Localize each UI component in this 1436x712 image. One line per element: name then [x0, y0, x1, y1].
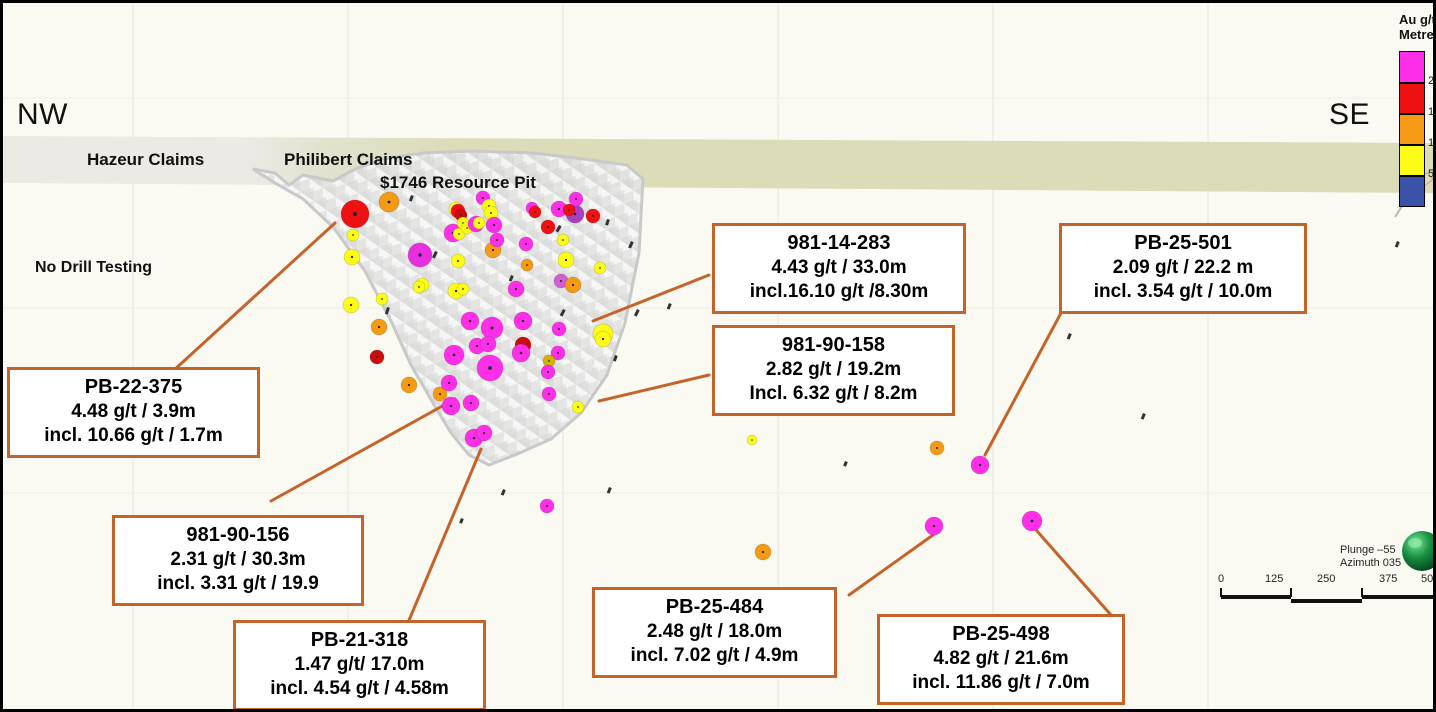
orientation-sphere-icon: [1402, 531, 1436, 571]
scale-tick-500: 500: [1421, 573, 1436, 585]
overburden-band: [3, 136, 1436, 193]
callout-grade: 2.09 g/t / 22.2 m: [1072, 256, 1294, 280]
legend-title-line1: Au g/t: [1399, 13, 1436, 28]
intercept-marker-center: [762, 551, 764, 553]
callout-pb-25-484[interactable]: PB-25-484 2.48 g/t / 18.0m incl. 7.02 g/…: [592, 587, 837, 678]
legend-tick-20: 20: [1428, 75, 1436, 87]
callout-pb-25-498[interactable]: PB-25-498 4.82 g/t / 21.6m incl. 11.86 g…: [877, 614, 1125, 705]
intercept-marker-center: [353, 212, 357, 216]
legend-swatch-red-15-20: [1399, 83, 1425, 114]
intercept-marker-center: [490, 326, 493, 329]
intercept-marker-center: [558, 208, 560, 210]
callout-hole-id: 981-14-283: [725, 231, 953, 256]
callout-grade: 2.48 g/t / 18.0m: [605, 620, 824, 644]
intercept-marker-center: [453, 354, 456, 357]
legend-swatch-blue-under-5: [1399, 176, 1425, 207]
intercept-marker-center: [602, 338, 604, 340]
intercept-marker-center: [560, 280, 562, 282]
intercept-marker-center: [482, 197, 484, 199]
intercept-marker-center: [418, 253, 421, 256]
intercept-marker-center: [936, 447, 938, 449]
intercept-marker-center: [933, 525, 936, 528]
intercept-marker-center: [592, 215, 594, 217]
intercept-marker-center: [352, 234, 354, 236]
intercept-marker-center: [520, 352, 523, 355]
intercept-marker-center: [568, 209, 570, 211]
callout-hole-id: PB-25-498: [890, 622, 1112, 647]
callout-incl: incl.16.10 g/t /8.30m: [725, 280, 953, 304]
intercept-marker-center: [458, 233, 460, 235]
intercept-marker-center: [575, 198, 577, 200]
intercept-marker-center: [469, 320, 472, 323]
intercept-marker-center: [548, 360, 550, 362]
intercept-marker-center: [562, 239, 564, 241]
intercept-marker-center: [378, 326, 380, 328]
direction-label-se: SE: [1329, 98, 1370, 132]
intercept-marker-center: [492, 249, 494, 251]
callout-incl: Incl. 6.32 g/t / 8.2m: [725, 382, 942, 406]
callout-grade: 2.31 g/t / 30.3m: [125, 548, 351, 572]
intercept-marker-center: [558, 328, 560, 330]
legend-title-line2: Metres: [1399, 28, 1436, 43]
callout-grade: 4.43 g/t / 33.0m: [725, 256, 953, 280]
intercept-marker-center: [448, 382, 450, 384]
callout-hole-id: PB-22-375: [20, 375, 247, 400]
callout-hole-id: 981-90-156: [125, 523, 351, 548]
orientation-azimuth: Azimuth 035: [1340, 557, 1401, 571]
callout-grade: 4.82 g/t / 21.6m: [890, 647, 1112, 671]
callout-incl: incl. 3.54 g/t / 10.0m: [1072, 280, 1294, 304]
callout-incl: incl. 7.02 g/t / 4.9m: [605, 644, 824, 668]
callout-hole-id: PB-25-484: [605, 595, 824, 620]
intercept-marker-center: [493, 224, 495, 226]
intercept-marker-center: [483, 432, 485, 434]
intercept-marker-center: [751, 439, 753, 441]
intercept-marker-center: [547, 226, 549, 228]
intercept-marker-center: [457, 260, 459, 262]
legend-tick-15: 15: [1428, 106, 1436, 118]
intercept-marker-center: [490, 212, 492, 214]
no-drill-testing-note: No Drill Testing: [35, 259, 152, 277]
intercept-marker-center: [476, 345, 478, 347]
resource-pit-label: $1746 Resource Pit: [380, 173, 536, 193]
scale-bar: [1221, 588, 1433, 603]
callout-hole-id: PB-21-318: [246, 628, 473, 653]
legend-swatch-orange-10-15: [1399, 114, 1425, 145]
intercept-marker-center: [1031, 520, 1034, 523]
intercept-marker-center: [547, 371, 549, 373]
intercept-marker-center: [439, 393, 441, 395]
callout-981-90-158[interactable]: 981-90-158 2.82 g/t / 19.2m Incl. 6.32 g…: [712, 325, 955, 416]
claim-label-hazeur: Hazeur Claims: [87, 150, 204, 170]
callout-981-14-283[interactable]: 981-14-283 4.43 g/t / 33.0m incl.16.10 g…: [712, 223, 966, 314]
callout-981-90-156[interactable]: 981-90-156 2.31 g/t / 30.3m incl. 3.31 g…: [112, 515, 364, 606]
callout-incl: incl. 3.31 g/t / 19.9: [125, 572, 351, 596]
scale-tick-125: 125: [1265, 573, 1283, 585]
intercept-marker-center: [496, 239, 498, 241]
intercept-marker-center: [565, 259, 567, 261]
intercept-marker-center: [557, 352, 559, 354]
cross-section-figure: NW SE Hazeur Claims Philibert Claims $17…: [0, 0, 1436, 712]
intercept-marker-center: [470, 402, 472, 404]
intercept-marker-center: [388, 201, 391, 204]
legend-tick-5: 5: [1428, 168, 1434, 180]
callout-incl: incl. 11.86 g/t / 7.0m: [890, 671, 1112, 695]
callout-incl: incl. 10.66 g/t / 1.7m: [20, 424, 247, 448]
intercept-marker-center: [487, 343, 489, 345]
intercept-marker-center: [525, 243, 527, 245]
scale-tick-375: 375: [1379, 573, 1397, 585]
scale-tick-250: 250: [1317, 573, 1335, 585]
callout-pb-22-375[interactable]: PB-22-375 4.48 g/t / 3.9m incl. 10.66 g/…: [7, 367, 260, 458]
legend-swatch-magenta-over-20: [1399, 51, 1425, 83]
intercept-marker-center: [572, 284, 574, 286]
intercept-marker-center: [350, 304, 352, 306]
intercept-marker-center: [450, 405, 453, 408]
legend-tick-10: 10: [1428, 137, 1436, 149]
intercept-marker-center: [460, 214, 462, 216]
intercept-marker-center: [599, 267, 601, 269]
callout-grade: 1.47 g/t/ 17.0m: [246, 653, 473, 677]
intercept-marker-center: [351, 256, 353, 258]
scale-tick-0: 0: [1218, 573, 1224, 585]
intercept-marker-center: [546, 505, 548, 507]
intercept-marker-center: [548, 393, 550, 395]
callout-hole-id: 981-90-158: [725, 333, 942, 358]
intercept-marker-center: [577, 406, 579, 408]
callout-grade: 2.82 g/t / 19.2m: [725, 358, 942, 382]
intercept-marker-center: [478, 222, 480, 224]
callout-hole-id: PB-25-501: [1072, 231, 1294, 256]
intercept-marker-center: [534, 211, 536, 213]
intercept-marker-center: [473, 437, 476, 440]
direction-label-nw: NW: [17, 98, 68, 132]
legend-swatch-yellow-5-10: [1399, 145, 1425, 176]
intercept-marker-center: [522, 320, 525, 323]
intercept-marker-center: [462, 288, 464, 290]
intercept-marker-center: [979, 464, 982, 467]
orientation-plunge: Plunge –55: [1340, 544, 1396, 558]
intercept-marker-center: [418, 286, 420, 288]
intercept-marker-center: [376, 356, 378, 358]
intercept-marker-center: [526, 264, 528, 266]
callout-pb-21-318[interactable]: PB-21-318 1.47 g/t/ 17.0m incl. 4.54 g/t…: [233, 620, 486, 711]
intercept-marker-center: [408, 384, 410, 386]
intercept-marker-center: [515, 288, 517, 290]
intercept-marker-center: [488, 366, 492, 370]
intercept-marker-center: [466, 227, 468, 229]
callout-incl: incl. 4.54 g/t / 4.58m: [246, 677, 473, 701]
callout-pb-25-501[interactable]: PB-25-501 2.09 g/t / 22.2 m incl. 3.54 g…: [1059, 223, 1307, 314]
intercept-marker-center: [381, 298, 383, 300]
callout-grade: 4.48 g/t / 3.9m: [20, 400, 247, 424]
claim-label-philibert: Philibert Claims: [284, 150, 412, 170]
